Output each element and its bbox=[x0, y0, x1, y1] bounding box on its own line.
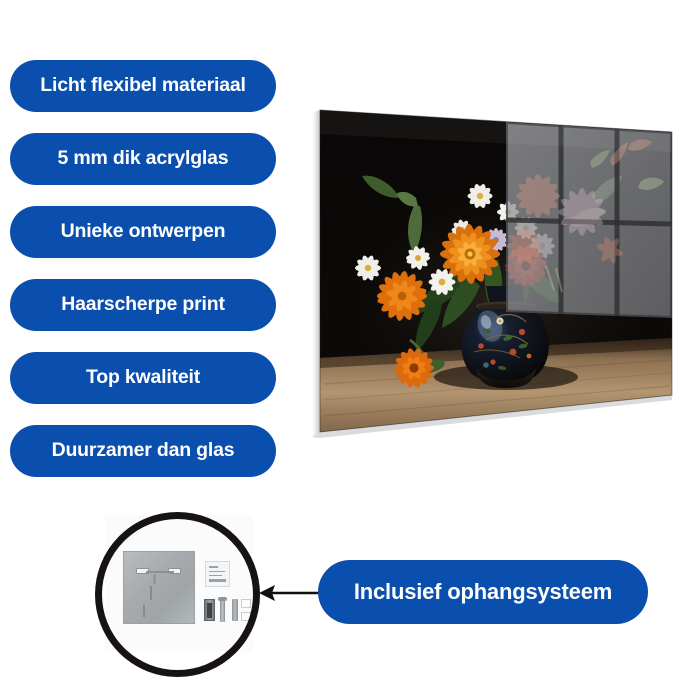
feature-pill-label: Licht flexibel materiaal bbox=[40, 76, 245, 96]
callout-pill-inclusief-ophangsysteem[interactable]: Inclusief ophangsysteem bbox=[318, 560, 648, 624]
hanging-system-highlight[interactable] bbox=[95, 512, 260, 677]
feature-pill-5-mm-dik-acrylglas[interactable]: 5 mm dik acrylglas bbox=[10, 133, 276, 185]
artwork-face bbox=[310, 100, 680, 445]
acrylic-panel-artwork bbox=[310, 100, 680, 445]
feature-pill-label: Haarscherpe print bbox=[61, 295, 225, 315]
artwork-window-reflection bbox=[506, 122, 672, 318]
feature-pill-label: 5 mm dik acrylglas bbox=[58, 149, 229, 169]
callout-pill-label: Inclusief ophangsysteem bbox=[354, 581, 612, 603]
artwork-svg bbox=[310, 100, 680, 445]
feature-pill-duurzamer-dan-glas[interactable]: Duurzamer dan glas bbox=[10, 425, 276, 477]
highlight-circle-outline bbox=[95, 512, 260, 677]
panel-side-edge bbox=[312, 110, 320, 437]
feature-pill-label: Duurzamer dan glas bbox=[52, 441, 235, 461]
feature-pill-label: Top kwaliteit bbox=[86, 368, 200, 388]
feature-pill-unieke-ontwerpen[interactable]: Unieke ontwerpen bbox=[10, 206, 276, 258]
feature-pill-top-kwaliteit[interactable]: Top kwaliteit bbox=[10, 352, 276, 404]
feature-pill-label: Unieke ontwerpen bbox=[61, 222, 226, 242]
feature-pill-licht-flexibel-materiaal[interactable]: Licht flexibel materiaal bbox=[10, 60, 276, 112]
feature-pill-haarscherpe-print[interactable]: Haarscherpe print bbox=[10, 279, 276, 331]
infographic-canvas: Licht flexibel materiaal 5 mm dik acrylg… bbox=[0, 0, 700, 700]
feature-pill-list: Licht flexibel materiaal 5 mm dik acrylg… bbox=[10, 60, 276, 498]
